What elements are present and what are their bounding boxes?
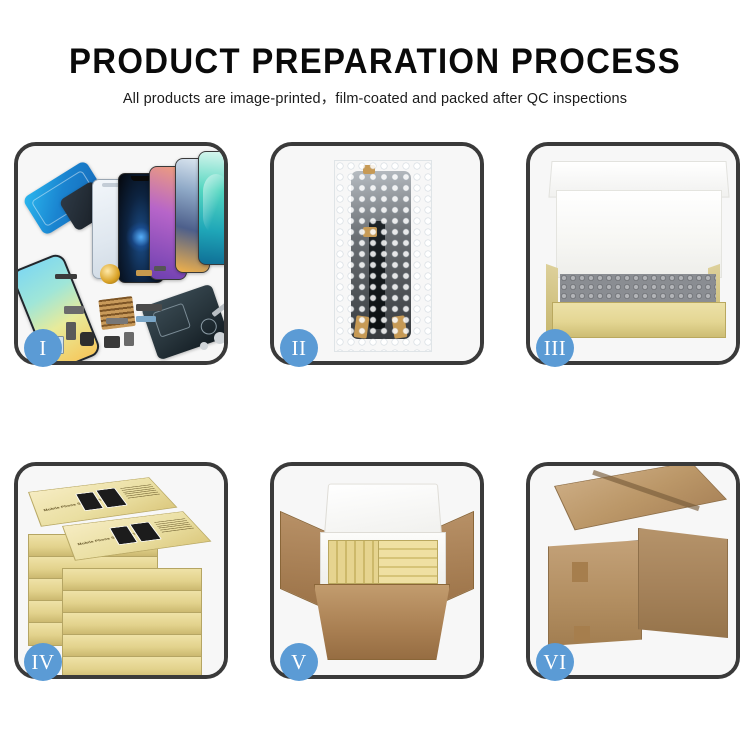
part-icon: [80, 332, 94, 346]
step-badge-3: III: [536, 329, 574, 367]
foam-box-illustration: [530, 146, 736, 361]
part-icon: [154, 266, 166, 271]
part-icon: [136, 270, 152, 276]
step-image-2: [274, 146, 480, 361]
part-icon: [55, 274, 77, 279]
phone-back-housing-icon: [141, 283, 224, 360]
step-badge-2: II: [280, 329, 318, 367]
box-stack: Mobile Phone Spare Parts Mobile Phon: [24, 484, 224, 664]
carton-top-face-icon: [554, 466, 727, 530]
step-panel-3[interactable]: III: [526, 142, 740, 365]
part-icon: [106, 318, 128, 324]
screw-icon: [200, 342, 208, 350]
foam-lid-icon: [324, 484, 443, 539]
process-step-grid: I II: [14, 142, 740, 679]
step-badge-4: IV: [24, 643, 62, 681]
page-subtitle: All products are image-printed，film-coat…: [0, 82, 750, 108]
phone-parts-illustration: [18, 146, 224, 361]
screw-icon: [214, 332, 224, 344]
part-icon: [66, 322, 76, 340]
carton-body-icon: [314, 584, 450, 660]
box-edge: [62, 590, 202, 614]
foam-sheet-icon: [556, 190, 722, 278]
part-icon: [104, 336, 120, 348]
step-panel-5[interactable]: V: [270, 462, 484, 679]
bubble-texture: [335, 161, 431, 351]
step-panel-1[interactable]: I: [14, 142, 228, 365]
grey-foam-padding-icon: [560, 274, 716, 304]
step-panel-2[interactable]: II: [270, 142, 484, 365]
box-spec-lines: [120, 484, 160, 498]
box-edge: [62, 634, 202, 658]
box-edge: [62, 568, 202, 592]
speaker-module-icon: [100, 264, 120, 284]
bubble-wrap-illustration: [274, 146, 480, 361]
header: PRODUCT PREPARATION PROCESS All products…: [0, 0, 750, 108]
carton-side-face-icon: [638, 528, 728, 638]
teal-phone-icon: [198, 151, 224, 265]
box-spec-lines: [154, 518, 194, 532]
step-badge-1: I: [24, 329, 62, 367]
step-badge-6: VI: [536, 643, 574, 681]
step-image-3: [530, 146, 736, 361]
step-panel-6[interactable]: VI: [526, 462, 740, 679]
yellow-box-front-icon: [552, 302, 726, 338]
box-edge: [62, 656, 202, 675]
bubble-wrap-bag-icon: [334, 160, 432, 352]
carton-tape-icon: [574, 626, 590, 642]
carton-front-face-icon: [548, 540, 642, 646]
page-title: PRODUCT PREPARATION PROCESS: [23, 0, 728, 82]
box-edge: [62, 612, 202, 636]
part-icon: [124, 332, 134, 346]
carton-tape-icon: [572, 562, 588, 582]
step-image-1: [18, 146, 224, 361]
yellow-boxes-row-icon: [378, 540, 438, 584]
part-icon: [136, 316, 156, 322]
step-panel-4[interactable]: Mobile Phone Spare Parts Mobile Phon: [14, 462, 228, 679]
chip-grid-icon: [98, 296, 135, 330]
page-root: PRODUCT PREPARATION PROCESS All products…: [0, 0, 750, 750]
part-icon: [64, 306, 84, 314]
step-badge-5: V: [280, 643, 318, 681]
part-icon: [136, 304, 162, 311]
